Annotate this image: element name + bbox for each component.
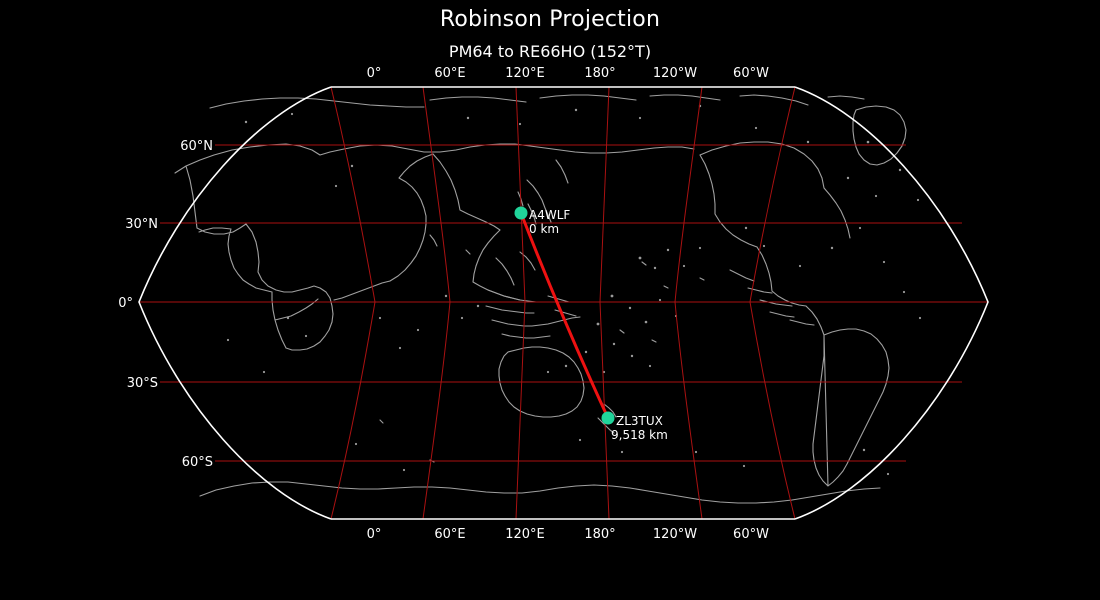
map-border-right (795, 87, 988, 519)
endpoint-marker-end[interactable] (602, 412, 615, 425)
meridian-0E (331, 87, 375, 519)
endpoint-end[interactable]: ZL3TUX 9,518 km (602, 412, 668, 443)
longitude-labels-bottom: 0° 60°E 120°E 180° 120°W 60°W (367, 527, 769, 542)
coastline-south-america (813, 329, 889, 486)
coastlines-layer (175, 95, 921, 503)
coastline-greenland (853, 106, 906, 165)
robinson-projection-map: A4WLF 0 km ZL3TUX 9,518 km 0° 60°E 120°E… (0, 0, 1100, 600)
lon-label-bottom-2: 120°E (505, 527, 545, 542)
island-specks (227, 105, 921, 475)
map-border-left (139, 87, 331, 519)
lon-label-bottom-3: 180° (584, 527, 615, 542)
endpoint-distance-start: 0 km (529, 222, 559, 236)
endpoint-marker-start[interactable] (515, 207, 528, 220)
lon-label-bottom-5: 60°W (733, 527, 769, 542)
lat-label-30S: 30°S (127, 376, 158, 391)
lon-label-top-4: 120°W (653, 66, 697, 81)
meridian-180 (600, 87, 609, 519)
lon-label-top-3: 180° (584, 66, 615, 81)
endpoint-label-end: ZL3TUX (616, 414, 663, 428)
map-figure: Robinson Projection PM64 to RE66HO (152°… (0, 0, 1100, 600)
lon-label-top-0: 0° (367, 66, 382, 81)
meridian-120W (675, 87, 702, 519)
lat-label-60S: 60°S (182, 455, 213, 470)
endpoint-label-start: A4WLF (529, 208, 570, 222)
lon-label-top-2: 120°E (505, 66, 545, 81)
endpoint-distance-end: 9,518 km (611, 428, 668, 442)
great-circle-path (521, 213, 608, 418)
lat-label-0: 0° (118, 296, 133, 311)
lat-label-60N: 60°N (180, 139, 213, 154)
lon-label-bottom-1: 60°E (434, 527, 465, 542)
meridian-120E (516, 87, 525, 519)
lon-label-bottom-4: 120°W (653, 527, 697, 542)
coastline-north-america (700, 142, 850, 335)
graticule-layer (139, 87, 988, 519)
latitude-labels: 60°N 30°N 0° 30°S 60°S (118, 139, 213, 470)
lon-label-bottom-0: 0° (367, 527, 382, 542)
lon-label-top-1: 60°E (434, 66, 465, 81)
longitude-labels-top: 0° 60°E 120°E 180° 120°W 60°W (367, 66, 769, 81)
coastline-antarctica (200, 482, 880, 503)
lon-label-top-5: 60°W (733, 66, 769, 81)
great-circle-path-layer (521, 213, 608, 418)
map-border-layer (139, 87, 988, 519)
lat-label-30N: 30°N (125, 217, 158, 232)
